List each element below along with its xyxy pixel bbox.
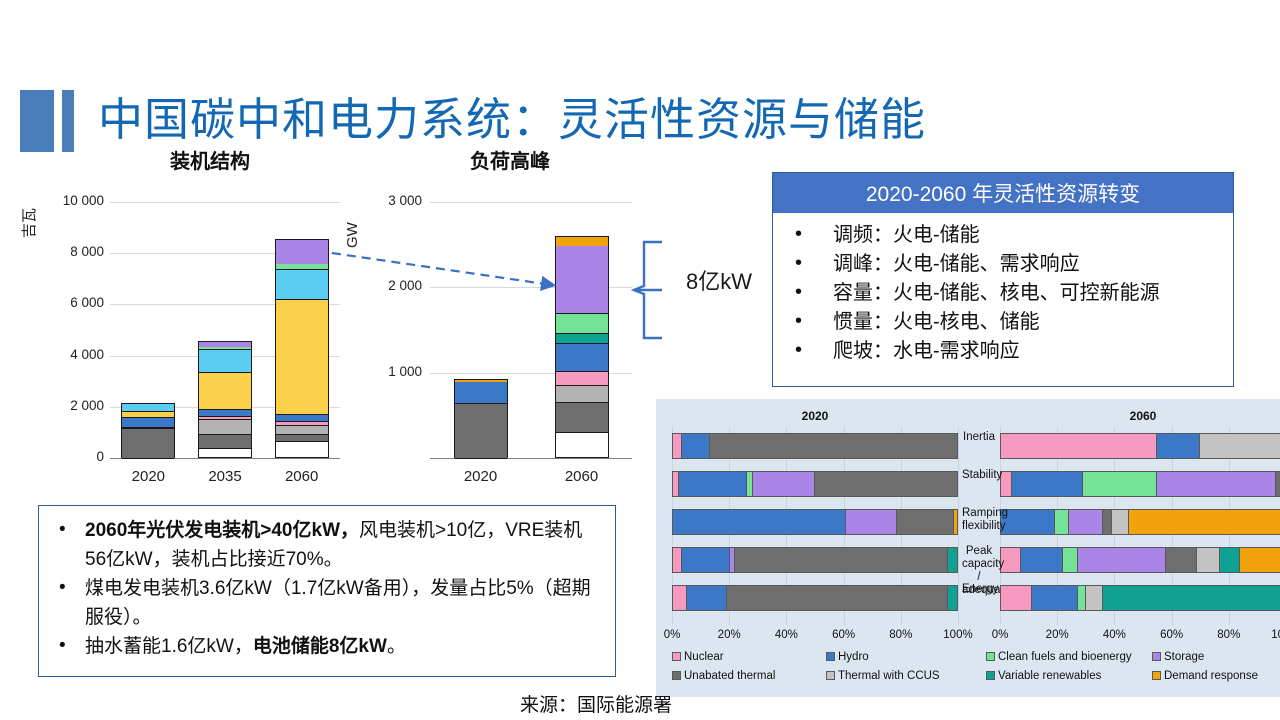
chart-capacity-bar[interactable] — [275, 239, 329, 458]
iea-bar-segment — [1166, 548, 1197, 572]
iea-bar-segment — [1001, 434, 1157, 458]
chart-capacity-segment — [122, 418, 174, 427]
iea-legend-swatch — [986, 652, 995, 661]
iea-legend-item: Demand response — [1152, 670, 1258, 682]
chart-peak-gridline — [430, 202, 632, 203]
chart-capacity-ytick: 0 — [18, 449, 104, 464]
iea-row-label: Inertia — [962, 431, 996, 444]
iea-bar-segment — [679, 472, 747, 496]
iea-bar-segment — [1276, 472, 1280, 496]
iea-bar-segment — [1086, 586, 1103, 610]
flexibility-box-header: 2020-2060 年灵活性资源转变 — [773, 173, 1233, 213]
iea-bar-segment — [1103, 586, 1280, 610]
iea-bar-segment — [846, 510, 897, 534]
chart-capacity-gridline — [110, 202, 340, 203]
chart-peak-segment — [556, 334, 608, 344]
iea-row-label: Energy — [962, 583, 996, 596]
chart-capacity-xtick: 2035 — [185, 468, 265, 485]
iea-bar-segment — [673, 510, 846, 534]
iea-legend-swatch — [826, 671, 835, 680]
iea-bar-segment — [1157, 434, 1200, 458]
chart-capacity-segment — [199, 373, 251, 410]
iea-legend-item: Thermal with CCUS — [826, 670, 940, 682]
iea-bar-segment — [1083, 472, 1157, 496]
flexibility-list-item: 容量：火电-储能、核电、可控新能源 — [773, 279, 1233, 308]
iea-bar-segment — [1032, 586, 1077, 610]
iea-bar-segment — [727, 586, 949, 610]
brace-icon — [628, 240, 684, 340]
iea-bar-segment — [682, 434, 710, 458]
flexibility-list-item: 调峰：火电-储能、需求响应 — [773, 250, 1233, 279]
iea-bar-segment — [710, 434, 957, 458]
chart-capacity-segment — [122, 429, 174, 459]
key-finding-item: 抽水蓄能1.6亿kW，电池储能8亿kW。 — [39, 632, 615, 661]
iea-bar-segment — [673, 548, 682, 572]
iea-xtick: 100% — [1264, 629, 1280, 641]
chart-peak-segment — [556, 344, 608, 372]
iea-panel-year-2060: 2060 — [1000, 409, 1280, 423]
iea-bar-segment — [673, 434, 682, 458]
iea-bar-segment — [687, 586, 727, 610]
chart-peak-xtick: 2020 — [441, 468, 521, 485]
chart-capacity-ylabel: 吉瓦 — [18, 208, 39, 238]
flexibility-box-list: 调频：火电-储能调峰：火电-储能、需求响应容量：火电-储能、核电、可控新能源惯量… — [773, 213, 1233, 366]
flexibility-transition-box: 2020-2060 年灵活性资源转变 调频：火电-储能调峰：火电-储能、需求响应… — [772, 172, 1234, 387]
chart-capacity-segment — [199, 435, 251, 449]
iea-bar-2020[interactable] — [672, 433, 958, 459]
iea-bar-segment — [1112, 510, 1129, 534]
iea-bar-2020[interactable] — [672, 585, 958, 611]
iea-bar-segment — [1001, 510, 1055, 534]
chart-capacity-segment — [199, 410, 251, 417]
iea-gridline — [958, 427, 959, 625]
iea-panel-year-2020: 2020 — [672, 409, 958, 423]
key-finding-run: 2060年光伏发电装机>40亿kW， — [85, 520, 359, 541]
key-finding-run: 电池储能8亿kW — [253, 636, 387, 657]
iea-bar-segment — [1240, 548, 1280, 572]
iea-xtick: 60% — [1150, 629, 1194, 641]
iea-legend-swatch — [826, 652, 835, 661]
chart-capacity-segment — [122, 404, 174, 411]
title-bar: 中国碳中和电力系统：灵活性资源与储能 — [0, 40, 1280, 120]
iea-legend-swatch — [672, 671, 681, 680]
iea-bar-2060[interactable] — [1000, 433, 1280, 459]
iea-legend-label: Thermal with CCUS — [838, 670, 940, 682]
iea-xtick: 100% — [936, 629, 980, 641]
chart-peak-ytick: 3 000 — [356, 193, 422, 208]
chart-peak-bar[interactable] — [454, 379, 508, 458]
iea-bar-segment — [1129, 510, 1280, 534]
iea-bar-segment — [1001, 472, 1012, 496]
chart-peak-segment — [556, 403, 608, 434]
chart-peak-title: 负荷高峰 — [420, 145, 600, 174]
flexibility-list-item: 调频：火电-储能 — [773, 221, 1233, 250]
title-accent-bar-wide — [20, 90, 54, 152]
iea-bar-segment — [948, 586, 957, 610]
chart-peak-segment — [556, 386, 608, 402]
iea-xtick: 60% — [822, 629, 866, 641]
chart-capacity-xtick: 2060 — [262, 468, 342, 485]
iea-legend-item: Nuclear — [672, 651, 724, 663]
iea-bar-segment — [1063, 548, 1077, 572]
key-finding-run: 煤电发电装机3.6亿kW（1.7亿kW备用），发量占比5%（超期服役）。 — [85, 578, 591, 628]
iea-row-label: Stability — [962, 469, 996, 482]
iea-bar-segment — [682, 548, 730, 572]
iea-bar-segment — [897, 510, 954, 534]
chart-peak-ytick: 1 000 — [356, 364, 422, 379]
chart-capacity-segment — [276, 300, 328, 415]
key-finding-item: 2060年光伏发电装机>40亿kW，风电装机>10亿，VRE装机56亿kW，装机… — [39, 516, 615, 574]
iea-bar-segment — [673, 586, 687, 610]
iea-legend-item: Clean fuels and bioenergy — [986, 651, 1132, 663]
iea-bar-2060[interactable] — [1000, 547, 1280, 573]
title-accent-bar-narrow — [62, 90, 74, 152]
iea-bar-segment — [1197, 548, 1220, 572]
chart-capacity-ytick: 6 000 — [18, 295, 104, 310]
chart-capacity-segment — [276, 426, 328, 435]
iea-bar-segment — [1021, 548, 1064, 572]
iea-xtick: 40% — [1092, 629, 1136, 641]
iea-bar-segment — [1078, 586, 1087, 610]
chart-peak-segment — [556, 372, 608, 387]
iea-bar-segment — [1012, 472, 1083, 496]
iea-xtick: 20% — [707, 629, 751, 641]
iea-bar-segment — [1055, 510, 1069, 534]
chart-capacity-segment — [276, 270, 328, 301]
chart-capacity-bar[interactable] — [198, 341, 252, 458]
chart-capacity-ytick: 2 000 — [18, 398, 104, 413]
iea-bar-segment — [1157, 472, 1276, 496]
iea-legend-label: Hydro — [838, 651, 869, 663]
iea-bar-segment — [1078, 548, 1166, 572]
iea-bar-segment — [1001, 586, 1032, 610]
iea-xtick: 20% — [1035, 629, 1079, 641]
key-finding-run: 抽水蓄能1.6亿kW， — [85, 636, 253, 657]
iea-bar-2020[interactable] — [672, 547, 958, 573]
iea-xtick: 40% — [764, 629, 808, 641]
iea-legend-swatch — [1152, 652, 1161, 661]
iea-bar-2020[interactable] — [672, 471, 958, 497]
key-findings-list: 2060年光伏发电装机>40亿kW，风电装机>10亿，VRE装机56亿kW，装机… — [39, 506, 615, 661]
chart-capacity-title: 装机结构 — [110, 145, 310, 174]
iea-bar-segment — [735, 548, 948, 572]
iea-legend-swatch — [1152, 671, 1161, 680]
iea-legend-swatch — [986, 671, 995, 680]
iea-legend-label: Storage — [1164, 651, 1204, 663]
chart-capacity-ytick: 10 000 — [18, 193, 104, 208]
iea-legend-swatch — [672, 652, 681, 661]
iea-row-label: Ramping flexibility — [962, 507, 996, 533]
iea-bar-segment — [948, 548, 957, 572]
iea-bar-2060[interactable] — [1000, 471, 1280, 497]
chart-capacity-ytick: 8 000 — [18, 244, 104, 259]
brace-annotation-label: 8亿kW — [686, 264, 752, 296]
iea-xtick: 80% — [1207, 629, 1251, 641]
iea-bar-2020[interactable] — [672, 509, 958, 535]
chart-capacity-bar[interactable] — [121, 403, 175, 458]
iea-bar-segment — [815, 472, 957, 496]
iea-legend-item: Variable renewables — [986, 670, 1101, 682]
iea-bar-segment — [954, 510, 957, 534]
iea-legend-item: Storage — [1152, 651, 1204, 663]
iea-xtick: 80% — [879, 629, 923, 641]
iea-xtick: 0% — [978, 629, 1022, 641]
iea-bar-segment — [753, 472, 815, 496]
key-finding-item: 煤电发电装机3.6亿kW（1.7亿kW备用），发量占比5%（超期服役）。 — [39, 574, 615, 632]
iea-bar-segment — [1103, 510, 1112, 534]
iea-bar-segment — [1220, 548, 1240, 572]
key-findings-box: 2060年光伏发电装机>40亿kW，风电装机>10亿，VRE装机56亿kW，装机… — [38, 505, 616, 677]
iea-legend-label: Unabated thermal — [684, 670, 775, 682]
source-note: 来源：国际能源署 — [520, 690, 672, 717]
flexibility-list-item: 爬坡：水电-需求响应 — [773, 337, 1233, 366]
chart-peak-xtick: 2060 — [542, 468, 622, 485]
iea-flexibility-panel: 20202060InertiaStabilityRamping flexibil… — [656, 399, 1280, 697]
chart-capacity-ytick: 4 000 — [18, 347, 104, 362]
chart-capacity-segment — [276, 415, 328, 422]
chart-capacity-segment — [199, 350, 251, 373]
iea-legend-item: Unabated thermal — [672, 670, 775, 682]
chart-peak-segment — [556, 314, 608, 334]
transition-arrow-icon — [330, 245, 590, 295]
chart-capacity-segment — [276, 435, 328, 441]
iea-legend-label: Clean fuels and bioenergy — [998, 651, 1132, 663]
chart-capacity-xtick: 2020 — [108, 468, 188, 485]
iea-legend-item: Hydro — [826, 651, 869, 663]
chart-peak-segment — [455, 382, 507, 404]
iea-xtick: 0% — [650, 629, 694, 641]
chart-capacity-segment — [276, 240, 328, 265]
iea-bar-segment — [1069, 510, 1103, 534]
page-title: 中国碳中和电力系统：灵活性资源与储能 — [98, 88, 926, 152]
flexibility-list-item: 惯量：火电-核电、储能 — [773, 308, 1233, 337]
iea-legend-label: Demand response — [1164, 670, 1258, 682]
key-finding-run: 。 — [387, 636, 406, 657]
iea-legend-label: Variable renewables — [998, 670, 1101, 682]
chart-capacity-segment — [199, 420, 251, 435]
iea-legend-label: Nuclear — [684, 651, 724, 663]
iea-bar-2060[interactable] — [1000, 585, 1280, 611]
iea-bar-2060[interactable] — [1000, 509, 1280, 535]
iea-bar-segment — [1200, 434, 1280, 458]
chart-peak-segment — [455, 404, 507, 459]
